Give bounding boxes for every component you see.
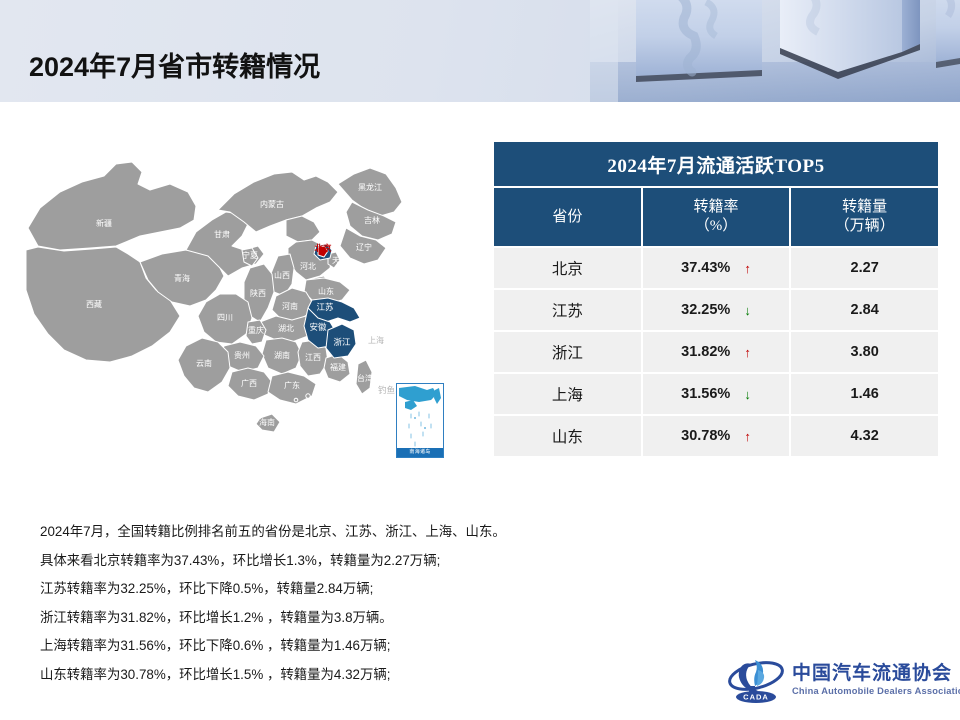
cell-transfer-rate: 31.82%↑ — [643, 332, 790, 372]
description-line: 江苏转籍率为32.25%，环比下降0.5%，转籍量2.84万辆; — [40, 575, 710, 604]
table-row: 北京37.43%↑2.27 — [494, 248, 938, 288]
svg-text:湖南: 湖南 — [274, 350, 290, 360]
cell-transfer-rate: 30.78%↑ — [643, 416, 790, 456]
cell-transfer-rate: 37.43%↑ — [643, 248, 790, 288]
column-header-transfer-volume-line1: 转籍量 — [842, 199, 887, 215]
rate-value: 37.43% — [681, 260, 730, 276]
rate-value: 32.25% — [681, 302, 730, 318]
svg-text:重庆: 重庆 — [248, 325, 264, 335]
svg-text:辽宁: 辽宁 — [356, 242, 372, 252]
table-body: 北京37.43%↑2.27江苏32.25%↓2.84浙江31.82%↑3.80上… — [494, 248, 938, 456]
svg-text:云南: 云南 — [196, 358, 212, 368]
svg-text:山西: 山西 — [274, 270, 290, 280]
svg-text:江西: 江西 — [305, 353, 321, 362]
cada-logo-text: 中国汽车流通协会 China Automobile Dealers Associ… — [792, 663, 960, 698]
arrow-up-icon: ↑ — [744, 430, 751, 443]
svg-text:上海: 上海 — [368, 335, 384, 345]
table-title-row: 2024年7月流通活跃TOP5 — [494, 142, 938, 186]
cada-name-en: China Automobile Dealers Association — [792, 685, 960, 698]
svg-text:湖北: 湖北 — [278, 324, 294, 333]
column-header-transfer-volume: 转籍量 （万辆） — [791, 188, 938, 246]
column-header-province: 省份 — [494, 188, 641, 246]
arrow-down-icon: ↓ — [744, 388, 751, 401]
svg-text:青海: 青海 — [174, 273, 190, 283]
cell-transfer-rate: 31.56%↓ — [643, 374, 790, 414]
top5-table: 2024年7月流通活跃TOP5 省份 转籍率 （%） 转籍量 （万辆） 北京37… — [492, 140, 940, 458]
svg-text:黑龙江: 黑龙江 — [358, 182, 382, 192]
description-line: 具体来看北京转籍率为37.43%，环比增长1.3%，转籍量为2.27万辆; — [40, 547, 710, 576]
svg-text:安徽: 安徽 — [309, 322, 327, 332]
arrow-up-icon: ↑ — [744, 262, 751, 275]
column-header-transfer-volume-line2: （万辆） — [835, 218, 895, 234]
cell-province: 浙江 — [494, 332, 641, 372]
svg-text:四川: 四川 — [217, 313, 233, 322]
cell-province: 北京 — [494, 248, 641, 288]
svg-text:新疆: 新疆 — [96, 218, 112, 228]
rate-value: 31.56% — [681, 386, 730, 402]
description-line: 上海转籍率为31.56%，环比下降0.6% ，转籍量为1.46万辆; — [40, 632, 710, 661]
header-banner: 2024年7月省市转籍情况 — [0, 0, 960, 102]
svg-text:CADA: CADA — [743, 693, 769, 702]
svg-text:西藏: 西藏 — [86, 299, 102, 309]
svg-text:北京: 北京 — [314, 243, 332, 253]
table-row: 山东30.78%↑4.32 — [494, 416, 938, 456]
svg-text:天津: 天津 — [332, 255, 348, 265]
svg-text:广东: 广东 — [284, 380, 300, 390]
description-paragraph: 2024年7月，全国转籍比例排名前五的省份是北京、江苏、浙江、上海、山东。具体来… — [40, 518, 710, 689]
svg-text:吉林: 吉林 — [364, 215, 380, 225]
svg-text:广西: 广西 — [241, 378, 257, 388]
top5-table-container: 2024年7月流通活跃TOP5 省份 转籍率 （%） 转籍量 （万辆） 北京37… — [492, 140, 940, 458]
rate-value: 31.82% — [681, 344, 730, 360]
svg-text:甘肃: 甘肃 — [214, 229, 230, 239]
table-row: 浙江31.82%↑3.80 — [494, 332, 938, 372]
svg-text:河北: 河北 — [300, 261, 316, 271]
cell-transfer-volume: 2.27 — [791, 248, 938, 288]
cell-transfer-volume: 4.32 — [791, 416, 938, 456]
svg-text:内蒙古: 内蒙古 — [260, 199, 284, 209]
cada-name-cn: 中国汽车流通协会 — [792, 663, 960, 685]
svg-text:江苏: 江苏 — [316, 302, 334, 312]
map-inset-south-china-sea: 南海诸岛 — [396, 383, 444, 458]
description-line: 2024年7月，全国转籍比例排名前五的省份是北京、江苏、浙江、上海、山东。 — [40, 518, 710, 547]
description-line: 山东转籍率为30.78%，环比增长1.5% ，转籍量为4.32万辆; — [40, 661, 710, 690]
table-row: 上海31.56%↓1.46 — [494, 374, 938, 414]
arrow-up-icon: ↑ — [744, 346, 751, 359]
table-header-row: 省份 转籍率 （%） 转籍量 （万辆） — [494, 188, 938, 246]
rate-value: 30.78% — [681, 428, 730, 444]
cell-province: 江苏 — [494, 290, 641, 330]
arrow-down-icon: ↓ — [744, 304, 751, 317]
column-header-transfer-rate: 转籍率 （%） — [643, 188, 790, 246]
svg-text:海南: 海南 — [259, 417, 275, 427]
svg-text:台湾: 台湾 — [357, 373, 373, 383]
svg-text:浙江: 浙江 — [333, 337, 351, 347]
column-header-transfer-rate-line1: 转籍率 — [693, 199, 738, 215]
cada-logo: CADA 中国汽车流通协会 China Automobile Dealers A… — [727, 654, 942, 706]
cell-province: 山东 — [494, 416, 641, 456]
svg-text:香港: 香港 — [312, 395, 328, 405]
cell-transfer-volume: 2.84 — [791, 290, 938, 330]
svg-text:宁夏: 宁夏 — [242, 250, 258, 260]
cell-transfer-rate: 32.25%↓ — [643, 290, 790, 330]
cell-province: 上海 — [494, 374, 641, 414]
cell-transfer-volume: 1.46 — [791, 374, 938, 414]
svg-text:贵州: 贵州 — [234, 350, 250, 360]
table-row: 江苏32.25%↓2.84 — [494, 290, 938, 330]
svg-text:陕西: 陕西 — [250, 288, 266, 298]
description-line: 浙江转籍率为31.82%，环比增长1.2% ，转籍量为3.8万辆。 — [40, 604, 710, 633]
map-inset-label: 南海诸岛 — [397, 448, 443, 457]
svg-text:山东: 山东 — [318, 286, 334, 296]
svg-text:河南: 河南 — [282, 301, 298, 311]
cell-transfer-volume: 3.80 — [791, 332, 938, 372]
page-title: 2024年7月省市转籍情况 — [29, 45, 320, 84]
banner-decorative-cubes-image — [590, 0, 960, 102]
column-header-transfer-rate-line2: （%） — [695, 218, 738, 234]
cada-emblem-icon: CADA — [727, 656, 785, 704]
svg-text:福建: 福建 — [330, 362, 346, 372]
table-title: 2024年7月流通活跃TOP5 — [494, 142, 938, 186]
svg-text:澳门: 澳门 — [286, 403, 302, 413]
